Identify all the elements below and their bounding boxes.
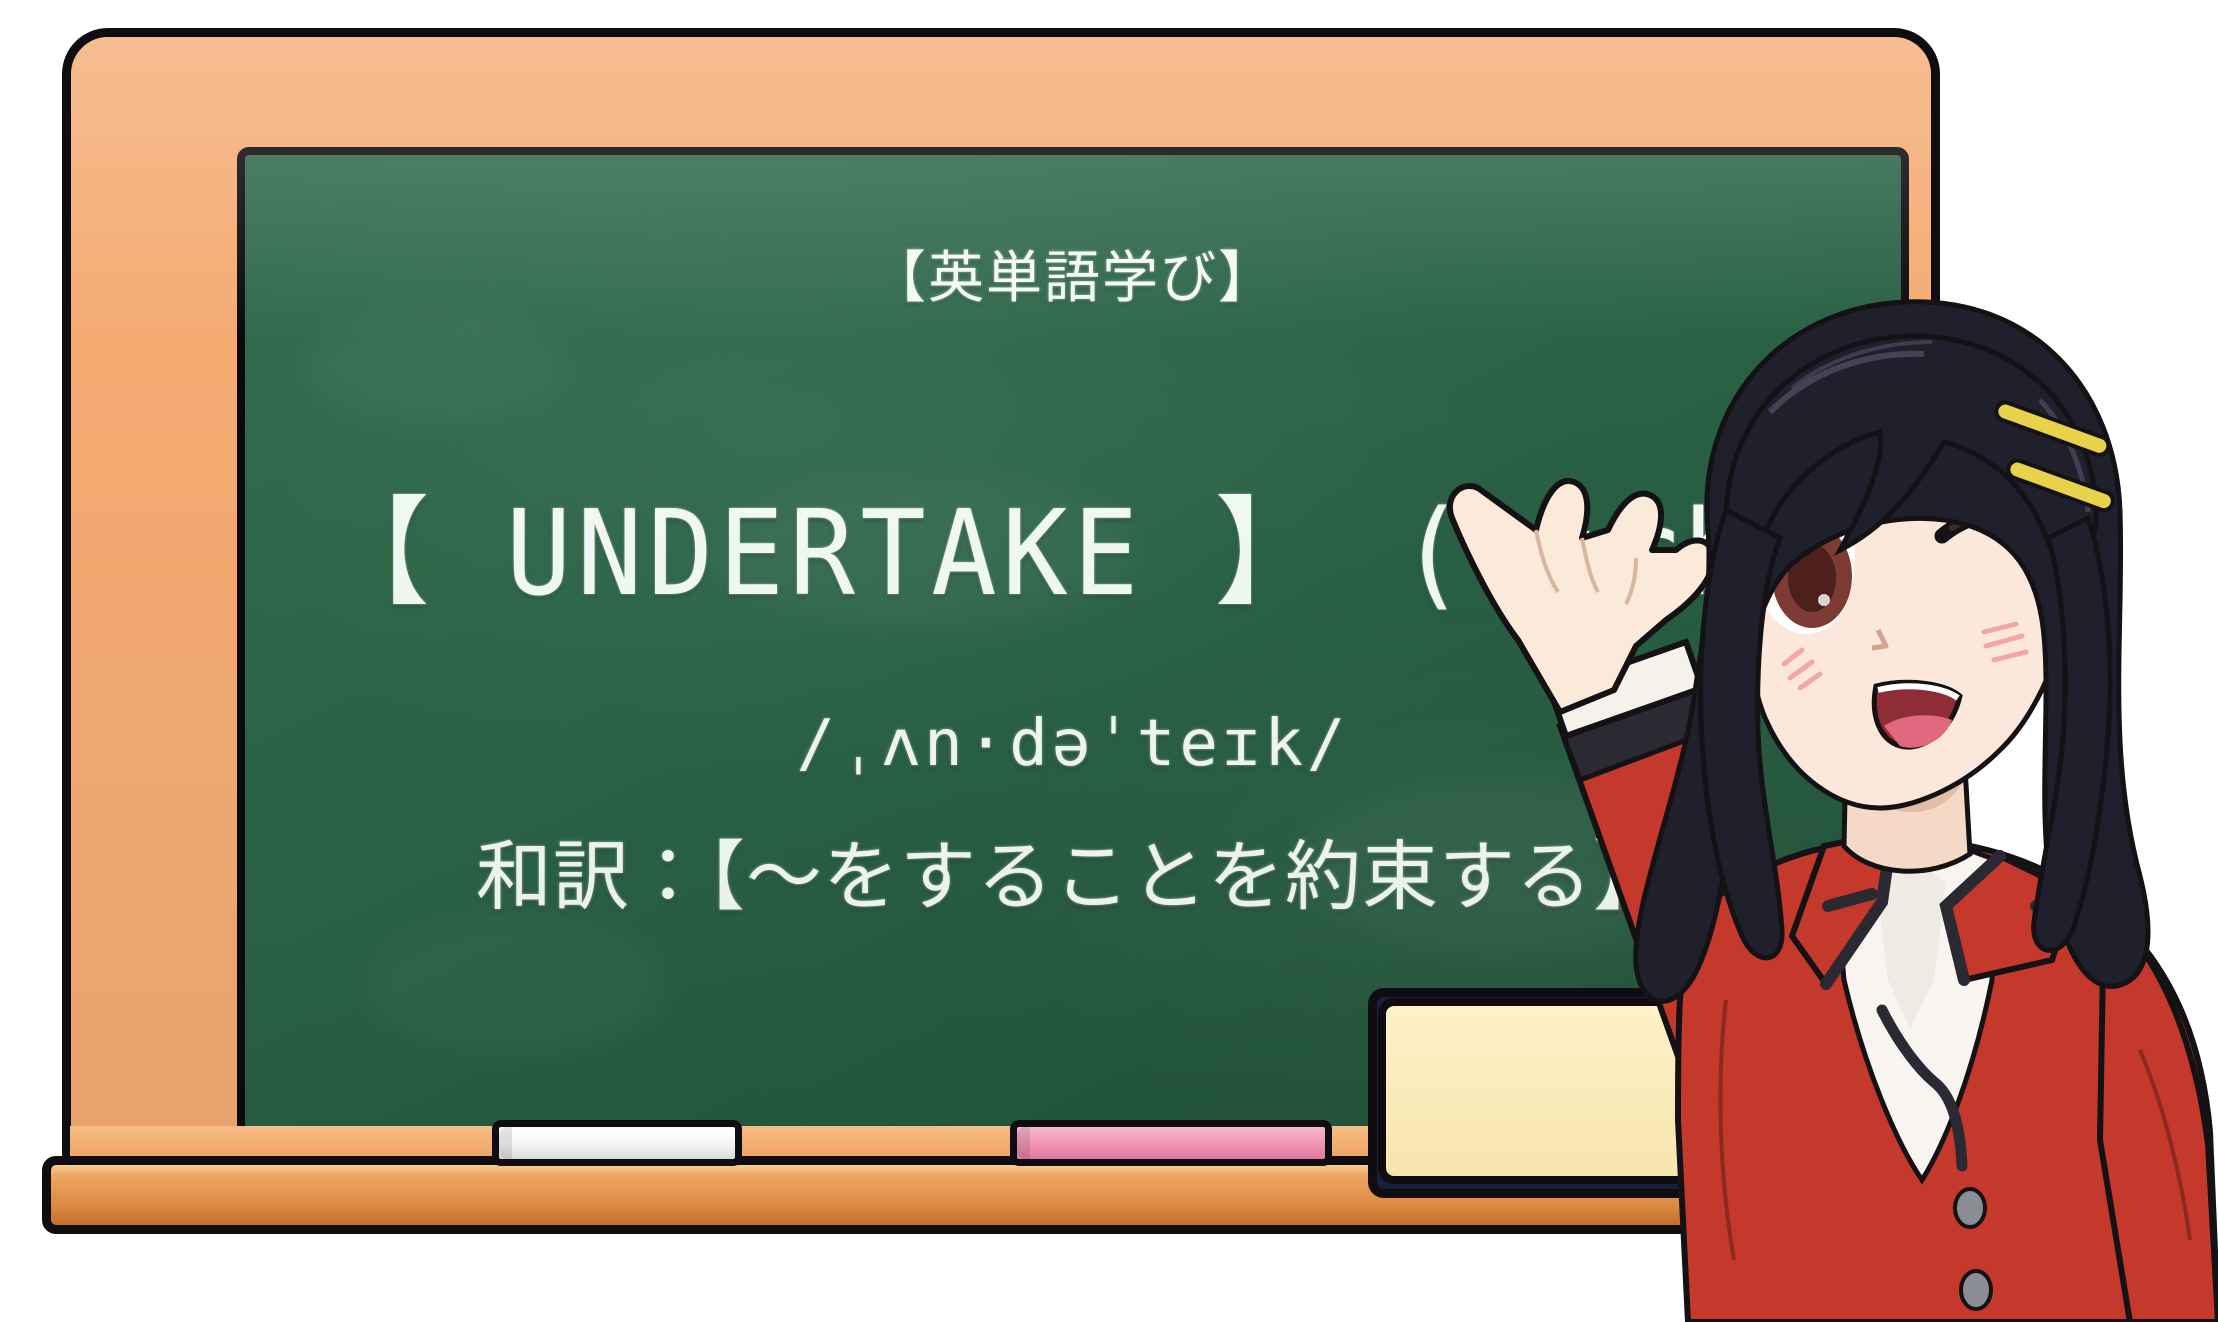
blackboard-eraser-felt[interactable] (1378, 998, 1712, 1184)
screenshot-canvas: 【英単語学び】 【 UNDERTAKE 】 (verb) /ˌʌn·dəˈteɪ… (0, 0, 2218, 1322)
chalk-smudge (305, 305, 565, 425)
pronunciation-ipa: /ˌʌn·dəˈteɪk/ (245, 707, 1901, 781)
blush-right (1984, 624, 2026, 660)
eye-winking (1942, 512, 2064, 536)
vocabulary-headword: 【 UNDERTAKE 】 (verb) (311, 457, 1835, 628)
hairclip-icon (1994, 400, 2116, 513)
pink-chalk-icon[interactable] (1010, 1120, 1332, 1166)
chalk-smudge (365, 915, 665, 1055)
lesson-category-title: 【英単語学び】 (245, 233, 1901, 314)
white-chalk-icon[interactable] (492, 1120, 742, 1166)
japanese-translation: 和訳：【〜をすることを約束する】 (245, 815, 1901, 925)
